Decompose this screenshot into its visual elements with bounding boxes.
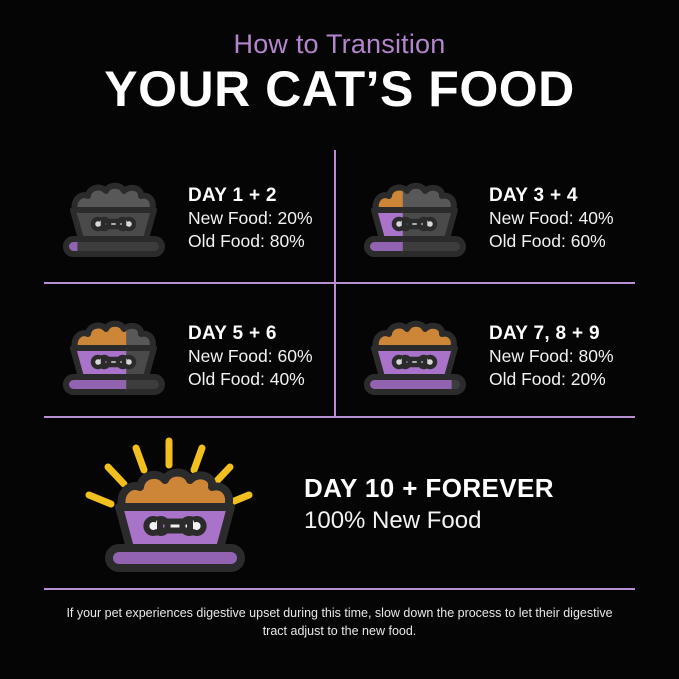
step-text-2: DAY 3 + 4 New Food: 40% Old Food: 60% <box>489 184 614 253</box>
infographic-poster: How to Transition YOUR CAT’S FOOD <box>0 0 679 679</box>
bowl-svg-4 <box>354 314 476 398</box>
bowl-svg-3 <box>53 314 175 398</box>
step-new-food: New Food: 60% <box>188 345 313 367</box>
bone-emblem <box>394 357 435 367</box>
divider-horizontal-middle <box>44 416 635 418</box>
bone-emblem <box>93 357 134 367</box>
poster-subtitle: How to Transition <box>0 30 679 58</box>
pet-food-bowl-icon <box>345 176 485 260</box>
step-day-label: DAY 7, 8 + 9 <box>489 322 614 346</box>
poster-header: How to Transition YOUR CAT’S FOOD <box>0 30 679 116</box>
step-card-4: DAY 7, 8 + 9 New Food: 80% Old Food: 20% <box>345 300 635 412</box>
step-old-food: Old Food: 60% <box>489 230 614 252</box>
bowl-svg-1 <box>53 176 175 260</box>
step-text-3: DAY 5 + 6 New Food: 60% Old Food: 40% <box>188 322 313 391</box>
step-card-1: DAY 1 + 2 New Food: 20% Old Food: 80% <box>44 162 334 274</box>
bone-emblem <box>146 519 203 533</box>
step-old-food: Old Food: 40% <box>188 368 313 390</box>
pet-food-bowl-icon <box>345 314 485 398</box>
step-card-2: DAY 3 + 4 New Food: 40% Old Food: 60% <box>345 162 635 274</box>
pet-food-bowl-icon <box>44 176 184 260</box>
poster-title: YOUR CAT’S FOOD <box>0 63 679 116</box>
step-new-food: New Food: 40% <box>489 207 614 229</box>
step-old-food: Old Food: 20% <box>489 368 614 390</box>
bowl-svg-final <box>76 435 262 575</box>
step-new-food: New Food: 80% <box>489 345 614 367</box>
bone-emblem <box>394 219 435 229</box>
final-step-card: DAY 10 + FOREVER 100% New Food <box>44 432 635 577</box>
footer-note: If your pet experiences digestive upset … <box>60 604 619 640</box>
step-day-label: DAY 1 + 2 <box>188 184 313 208</box>
step-new-food: New Food: 20% <box>188 207 313 229</box>
step-day-label: DAY 5 + 6 <box>188 322 313 346</box>
pet-food-bowl-shining-icon <box>44 435 294 575</box>
divider-horizontal-bottom <box>44 588 635 590</box>
step-text-1: DAY 1 + 2 New Food: 20% Old Food: 80% <box>188 184 313 253</box>
final-step-text: DAY 10 + FOREVER 100% New Food <box>304 473 554 536</box>
divider-horizontal-top <box>44 282 635 284</box>
step-day-label: DAY 3 + 4 <box>489 184 614 208</box>
pet-food-bowl-icon <box>44 314 184 398</box>
final-day-label: DAY 10 + FOREVER <box>304 473 554 505</box>
step-text-4: DAY 7, 8 + 9 New Food: 80% Old Food: 20% <box>489 322 614 391</box>
bowl-svg-2 <box>354 176 476 260</box>
step-card-3: DAY 5 + 6 New Food: 60% Old Food: 40% <box>44 300 334 412</box>
step-old-food: Old Food: 80% <box>188 230 313 252</box>
final-description: 100% New Food <box>304 505 554 536</box>
bone-emblem <box>93 219 134 229</box>
divider-vertical <box>334 150 336 416</box>
